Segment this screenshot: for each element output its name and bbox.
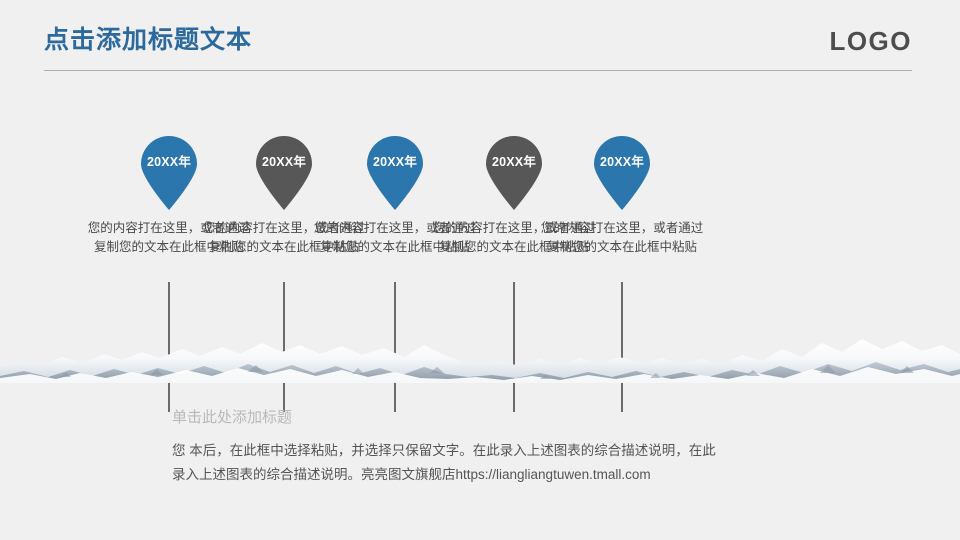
footer-block: 单击此处添加标题 您 本后，在此框中选择粘贴，并选择只保留文字。在此录入上述图表… [172, 408, 872, 488]
timeline-item-label: 20XX年 [362, 156, 428, 169]
slide: 点击添加标题文本 LOGO 20XX年 您的内容打在这里，或者通过复制您的文本在… [0, 0, 960, 540]
slide-header: 点击添加标题文本 LOGO [0, 0, 960, 78]
footer-body-line-1: 您 本后，在此框中选择粘贴，并选择只保留文字。在此录入上述图表的综合描述说明，在… [172, 439, 872, 464]
header-divider [44, 70, 912, 71]
map-pin-icon: 20XX年 [362, 134, 428, 210]
connector-line-5 [621, 282, 623, 412]
timeline-item-text: 您的内容打在这里，或者通过复制您的文本在此框中粘贴 [532, 219, 712, 258]
timeline-item-label: 20XX年 [136, 156, 202, 169]
connector-line-2 [283, 282, 285, 412]
connector-line-4 [513, 282, 515, 412]
timeline: 20XX年 您的内容打在这里，或者通过复制您的文本在此框中粘贴 20XX年 您的… [0, 130, 960, 390]
map-pin-icon: 20XX年 [589, 134, 655, 210]
footer-body: 您 本后，在此框中选择粘贴，并选择只保留文字。在此录入上述图表的综合描述说明，在… [172, 439, 872, 489]
footer-title[interactable]: 单击此处添加标题 [172, 408, 872, 428]
page-title[interactable]: 点击添加标题文本 [44, 28, 252, 53]
footer-body-line-2: 录入上述图表的综合描述说明。亮亮图文旗舰店https://liangliangt… [172, 463, 872, 488]
connector-line-1 [168, 282, 170, 412]
timeline-item-label: 20XX年 [589, 156, 655, 169]
logo: LOGO [829, 28, 912, 54]
connector-line-3 [394, 282, 396, 412]
map-pin-icon: 20XX年 [136, 134, 202, 210]
timeline-item-5[interactable]: 20XX年 您的内容打在这里，或者通过复制您的文本在此框中粘贴 [532, 130, 712, 258]
